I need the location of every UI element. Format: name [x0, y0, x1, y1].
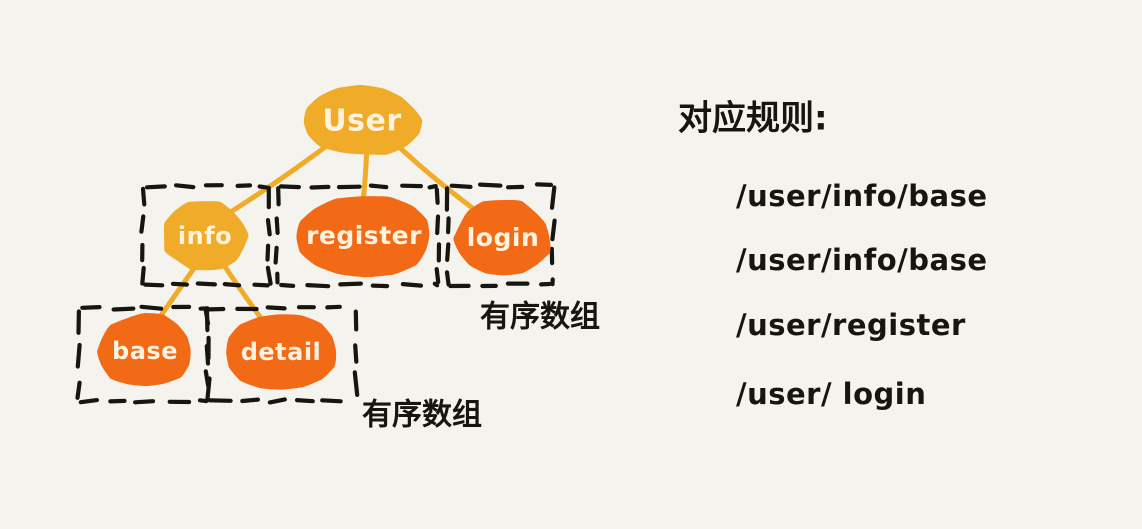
group-box-edge-left: [206, 310, 208, 324]
group-box-edge-right: [552, 188, 554, 208]
group-box-edge-top: [452, 186, 471, 187]
group-box-edge-bottom: [173, 284, 187, 285]
node-label-login: login: [467, 223, 540, 252]
group-box-edge-bottom: [307, 285, 328, 286]
group-box-edge-bottom: [81, 400, 97, 402]
annotation-anno-bottom: 有序数组: [362, 398, 482, 433]
group-box-edge-left: [447, 244, 448, 260]
rules-item-2: /user/register: [736, 308, 966, 342]
group-box-edge-bottom: [403, 284, 421, 286]
group-box-edge-bottom: [340, 284, 361, 285]
diagram-node-register[interactable]: register: [296, 196, 429, 277]
group-box-edge-bottom: [297, 400, 313, 401]
group-box-edge-left: [276, 248, 277, 263]
group-box-edge-bottom: [435, 284, 437, 286]
rules-item-0: /user/info/base: [736, 179, 988, 213]
group-box-edge-right: [268, 246, 269, 260]
group-box-edge-top: [268, 307, 285, 308]
group-box-edge-top: [480, 185, 500, 186]
node-label-info: info: [178, 222, 232, 250]
group-box-edge-top: [260, 187, 267, 188]
group-box-edge-top: [238, 185, 250, 186]
group-box-edge-top: [430, 186, 436, 187]
group-box-edge-left: [78, 345, 80, 367]
group-box-edge-top: [82, 307, 99, 308]
group-box-edge-bottom: [281, 285, 293, 286]
group-box-edge-bottom: [255, 285, 268, 286]
group-box-edge-top: [371, 186, 386, 188]
group-box-edge-right: [268, 220, 270, 234]
group-box-edge-right: [268, 268, 271, 284]
annotation-anno-top: 有序数组: [480, 300, 600, 335]
node-label-user: User: [322, 104, 401, 139]
node-label-detail: detail: [241, 338, 322, 366]
group-box-edge-top: [147, 186, 165, 187]
group-box-edge-bottom: [270, 399, 285, 402]
group-box-edge-bottom: [373, 286, 387, 287]
group-box-edge-right: [437, 217, 438, 234]
group-box-edge-bottom: [198, 284, 215, 285]
group-box-edge-top: [327, 307, 340, 308]
group-box-edge-left: [447, 272, 449, 284]
group-box-edge-left: [143, 189, 144, 205]
group-box-edge-right: [437, 269, 439, 282]
group-box-edge-bottom: [322, 400, 341, 401]
group-box-edge-right: [355, 372, 357, 395]
group-box-edge-bottom: [135, 401, 153, 402]
group-box-edge-left: [277, 219, 278, 233]
group-box-edge-bottom: [110, 401, 124, 402]
diagram-node-detail[interactable]: detail: [226, 314, 336, 389]
group-box-edge-right: [355, 345, 356, 361]
node-label-base: base: [112, 337, 178, 365]
rules-item-1: /user/info/base: [736, 243, 988, 277]
group-box-edge-top: [176, 185, 193, 187]
group-box-edge-bottom: [210, 400, 231, 401]
diagram-canvas: Userinforegisterloginbasedetail 有序数组有序数组…: [0, 0, 1142, 529]
group-box-edge-left: [448, 218, 449, 232]
group-box-edge-bottom: [145, 285, 162, 286]
node-label-register: register: [306, 221, 422, 250]
group-box-edge-bottom: [242, 400, 258, 401]
group-box-edge-right: [552, 221, 554, 240]
group-box-edge-top: [312, 187, 329, 188]
rules-item-3: /user/ login: [736, 377, 926, 411]
group-box-edge-right: [437, 189, 438, 202]
group-box-edge-top: [537, 184, 551, 185]
group-box-edge-bottom: [200, 400, 206, 401]
group-box-edge-bottom: [225, 284, 239, 285]
group-box-edge-left: [141, 216, 143, 231]
group-box-edge-top: [281, 186, 299, 187]
group-box-edge-top: [142, 307, 162, 309]
group-box-edge-left: [206, 371, 208, 386]
group-box-edge-left: [142, 268, 143, 284]
rules-panel-title: 对应规则:: [678, 99, 828, 139]
group-box-edge-left: [78, 383, 80, 398]
group-box-edge-top: [114, 309, 134, 310]
